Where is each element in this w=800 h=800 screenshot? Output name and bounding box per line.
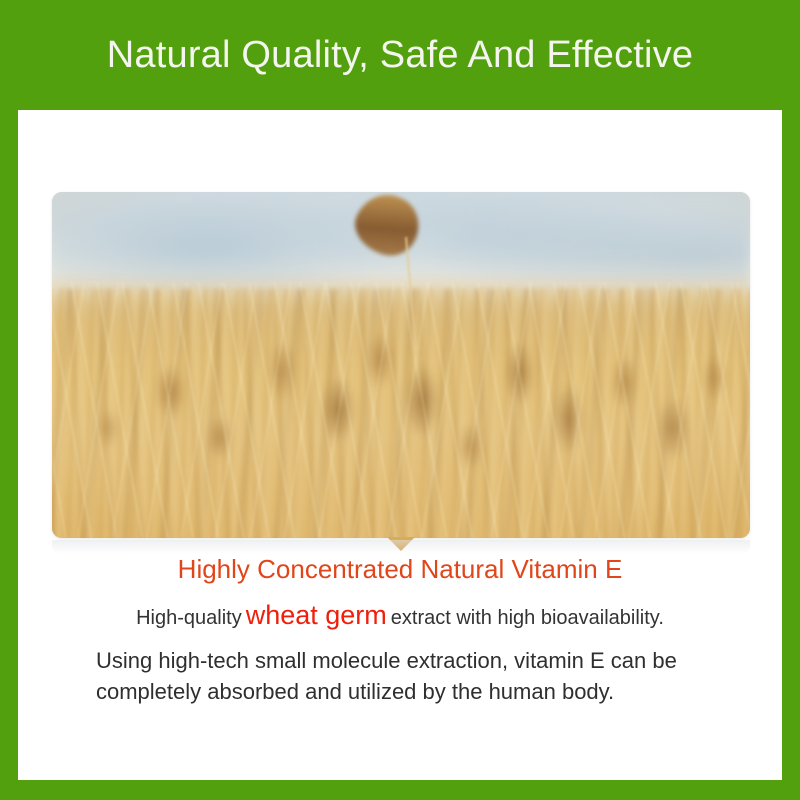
description-paragraph: Using high-tech small molecule extractio… bbox=[18, 645, 782, 707]
product-headline: Highly Concentrated Natural Vitamin E bbox=[18, 552, 782, 586]
photo-soft-haze-layer bbox=[52, 192, 750, 538]
header-banner: Natural Quality, Safe And Effective bbox=[0, 0, 800, 110]
lead-sentence: High-qualitywheat germextract with high … bbox=[18, 601, 782, 632]
promo-banner-page: { "banner": { "title": "Natural Quality,… bbox=[0, 0, 800, 800]
text-block: Highly Concentrated Natural Vitamin E Hi… bbox=[18, 552, 782, 707]
content-card: Highly Concentrated Natural Vitamin E Hi… bbox=[18, 110, 782, 780]
wheat-field-photo bbox=[52, 192, 750, 538]
lead-text-after: extract with high bioavailability. bbox=[391, 607, 664, 629]
page-title: Natural Quality, Safe And Effective bbox=[107, 36, 693, 74]
lead-highlight-wheat-germ: wheat germ bbox=[242, 600, 391, 630]
lead-text-before: High-quality bbox=[136, 607, 242, 629]
photo-panel bbox=[52, 192, 750, 538]
